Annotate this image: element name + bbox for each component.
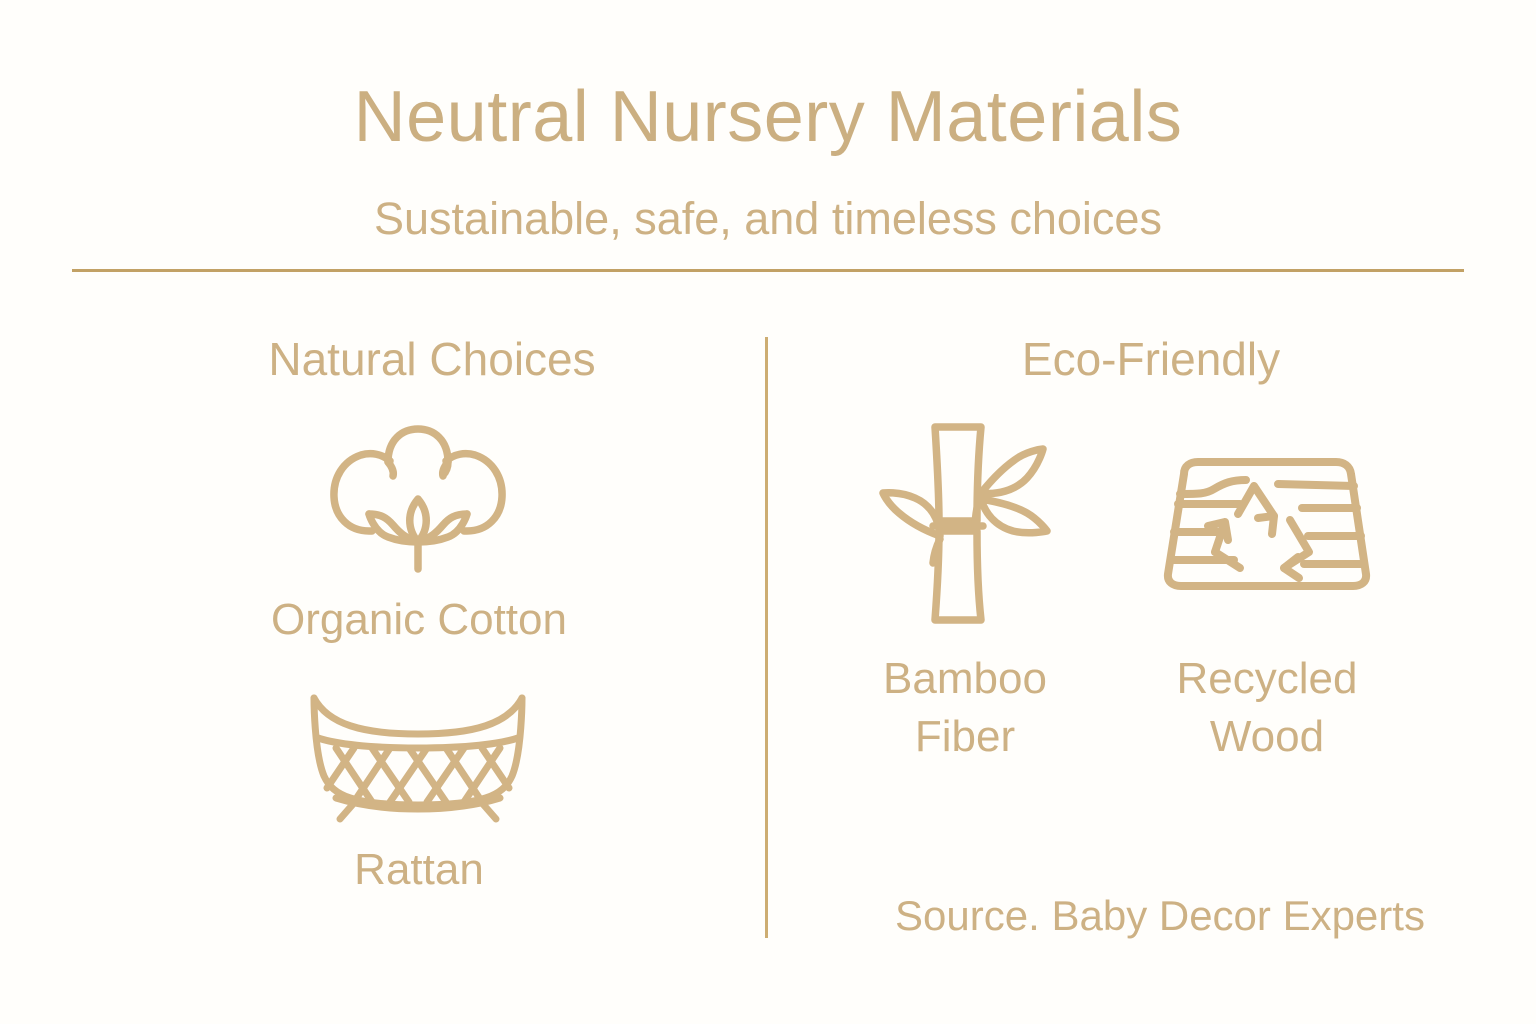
page-title: Neutral Nursery Materials (0, 74, 1536, 160)
label-recycled-wood: Recycled Wood (1177, 650, 1358, 766)
source-attribution: Source. Baby Decor Experts (790, 890, 1464, 942)
material-item-bamboo-fiber: Bamboo Fiber (862, 420, 1068, 766)
label-bamboo-line2: Fiber (883, 708, 1047, 766)
material-item-rattan: Rattan (72, 646, 762, 896)
column-heading-eco: Eco-Friendly (790, 330, 1464, 388)
column-heading-natural: Natural Choices (72, 330, 762, 388)
label-bamboo-line1: Bamboo (883, 650, 1047, 708)
infographic-canvas: Neutral Nursery Materials Sustainable, s… (0, 0, 1536, 1024)
header-divider (72, 269, 1464, 272)
label-bamboo-fiber: Bamboo Fiber (883, 650, 1047, 766)
label-recycled-line1: Recycled (1177, 650, 1358, 708)
column-natural-choices: Natural Choices (72, 330, 762, 896)
recycled-wood-icon (1162, 456, 1372, 590)
column-eco-friendly: Eco-Friendly (790, 330, 1464, 388)
material-item-recycled-wood: Recycled Wood (1164, 420, 1370, 766)
label-recycled-line2: Wood (1177, 708, 1358, 766)
rattan-basket-icon (306, 690, 530, 820)
label-organic-cotton: Organic Cotton (271, 594, 567, 646)
bamboo-stalk-icon (877, 421, 1053, 625)
cotton-flower-icon (325, 424, 511, 574)
recycled-wood-glyph-box (1162, 420, 1372, 626)
label-rattan: Rattan (354, 844, 484, 896)
column-divider (765, 337, 768, 938)
page-subtitle: Sustainable, safe, and timeless choices (0, 192, 1536, 246)
material-item-organic-cotton: Organic Cotton (72, 388, 762, 646)
bamboo-glyph-box (877, 420, 1053, 626)
eco-items-row: Bamboo Fiber (790, 420, 1464, 766)
